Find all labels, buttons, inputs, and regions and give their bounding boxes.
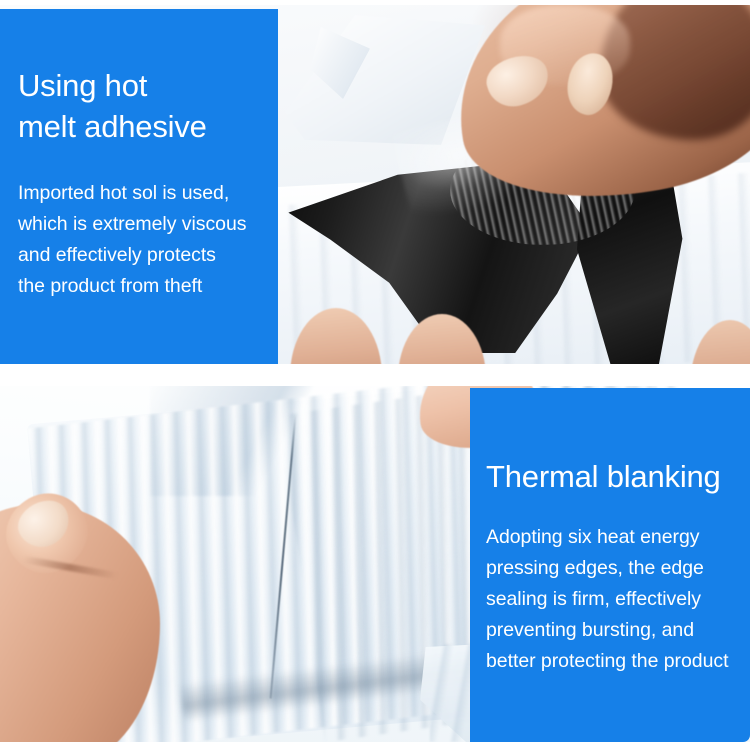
body-text-thermal-blanking: Adopting six heat energy pressing edges,…	[486, 522, 740, 677]
section-separator	[0, 364, 750, 386]
caption-panel-hot-melt-adhesive: Using hot melt adhesive Imported hot sol…	[0, 9, 278, 364]
infographic-page: Using hot melt adhesive Imported hot sol…	[0, 0, 750, 750]
section-hot-melt-adhesive: Using hot melt adhesive Imported hot sol…	[0, 5, 750, 364]
headline-thermal-blanking: Thermal blanking	[486, 458, 740, 496]
caption-panel-thermal-blanking: Thermal blanking Adopting six heat energ…	[470, 388, 750, 742]
section-thermal-blanking: Thermal blanking Adopting six heat energ…	[0, 386, 750, 742]
headline-hot-melt-adhesive: Using hot melt adhesive	[18, 65, 262, 147]
bottom-margin-band	[0, 742, 750, 750]
body-text-hot-melt-adhesive: Imported hot sol is used, which is extre…	[18, 178, 262, 302]
